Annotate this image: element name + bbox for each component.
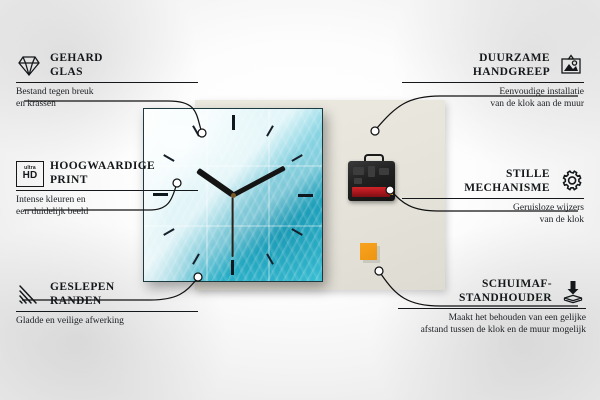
feature-title: DUURZAME HANDGREEP xyxy=(473,52,550,79)
feature-title: GESLEPEN RANDEN xyxy=(50,281,115,308)
feature-divider xyxy=(16,190,198,191)
feature-description: Geruisloze wijzers van de klok xyxy=(402,203,584,226)
clock-tick-12 xyxy=(232,115,234,195)
feature-header: ultra HD HOOGWAARDIGE PRINT xyxy=(16,160,198,187)
feature-title: STILLE MECHANISME xyxy=(464,168,550,195)
clock-movement xyxy=(348,161,395,201)
movement-detail xyxy=(368,166,375,177)
feature-description: Gladde en veilige afwerking xyxy=(16,316,198,328)
feature-geslepen-randen[interactable]: GESLEPEN RANDEN Gladde en veilige afwerk… xyxy=(16,281,198,328)
feature-header: GESLEPEN RANDEN xyxy=(16,281,198,308)
movement-detail xyxy=(354,178,362,184)
ultra-hd-icon: ultra HD xyxy=(16,161,42,187)
diamond-icon xyxy=(16,53,42,79)
feature-description: Maakt het behouden van een gelijke afsta… xyxy=(398,313,586,336)
feature-duurzame-handgreep[interactable]: DUURZAME HANDGREEP Eenvoudige installati… xyxy=(402,52,584,110)
picture-frame-icon xyxy=(558,53,584,79)
clock-tick-3 xyxy=(233,194,313,196)
press-down-pad-icon xyxy=(560,279,586,305)
feature-header: STILLE MECHANISME xyxy=(402,168,584,195)
feature-divider xyxy=(16,82,198,83)
feature-description: Bestand tegen breuk en krassen xyxy=(16,87,198,110)
movement-housing xyxy=(348,161,395,201)
feature-header: DUURZAME HANDGREEP xyxy=(402,52,584,79)
clock-second-hand xyxy=(232,195,234,257)
feature-header: SCHUIMAF- STANDHOUDER xyxy=(398,278,586,305)
clock-center-cap xyxy=(231,193,236,198)
feature-title: SCHUIMAF- STANDHOUDER xyxy=(459,278,552,305)
movement-detail xyxy=(379,168,389,175)
feature-title: GEHARD GLAS xyxy=(50,52,103,79)
feature-divider xyxy=(398,308,586,309)
feature-description: Intense kleuren en een duidelijk beeld xyxy=(16,195,198,218)
feature-description: Eenvoudige installatie van de klok aan d… xyxy=(402,87,584,110)
feature-header: GEHARD GLAS xyxy=(16,52,198,79)
feature-divider xyxy=(402,82,584,83)
movement-detail xyxy=(353,167,364,175)
gear-icon xyxy=(558,169,584,195)
movement-battery xyxy=(352,187,390,197)
feature-divider xyxy=(16,311,198,312)
feature-hoogwaardige-print[interactable]: ultra HD HOOGWAARDIGE PRINT Intense kleu… xyxy=(16,160,198,218)
product-infographic: GEHARD GLAS Bestand tegen breuk en krass… xyxy=(0,0,600,400)
feature-title: HOOGWAARDIGE PRINT xyxy=(50,160,155,187)
feature-stille-mechanisme[interactable]: STILLE MECHANISME Geruisloze wijzers van… xyxy=(402,168,584,226)
feature-gehard-glas[interactable]: GEHARD GLAS Bestand tegen breuk en krass… xyxy=(16,52,198,110)
feature-divider xyxy=(402,198,584,199)
foam-spacer-part xyxy=(360,243,377,260)
bevelled-edge-icon xyxy=(16,282,42,308)
feature-schuimafstandhouder[interactable]: SCHUIMAF- STANDHOUDER Maakt het behouden… xyxy=(398,278,586,336)
